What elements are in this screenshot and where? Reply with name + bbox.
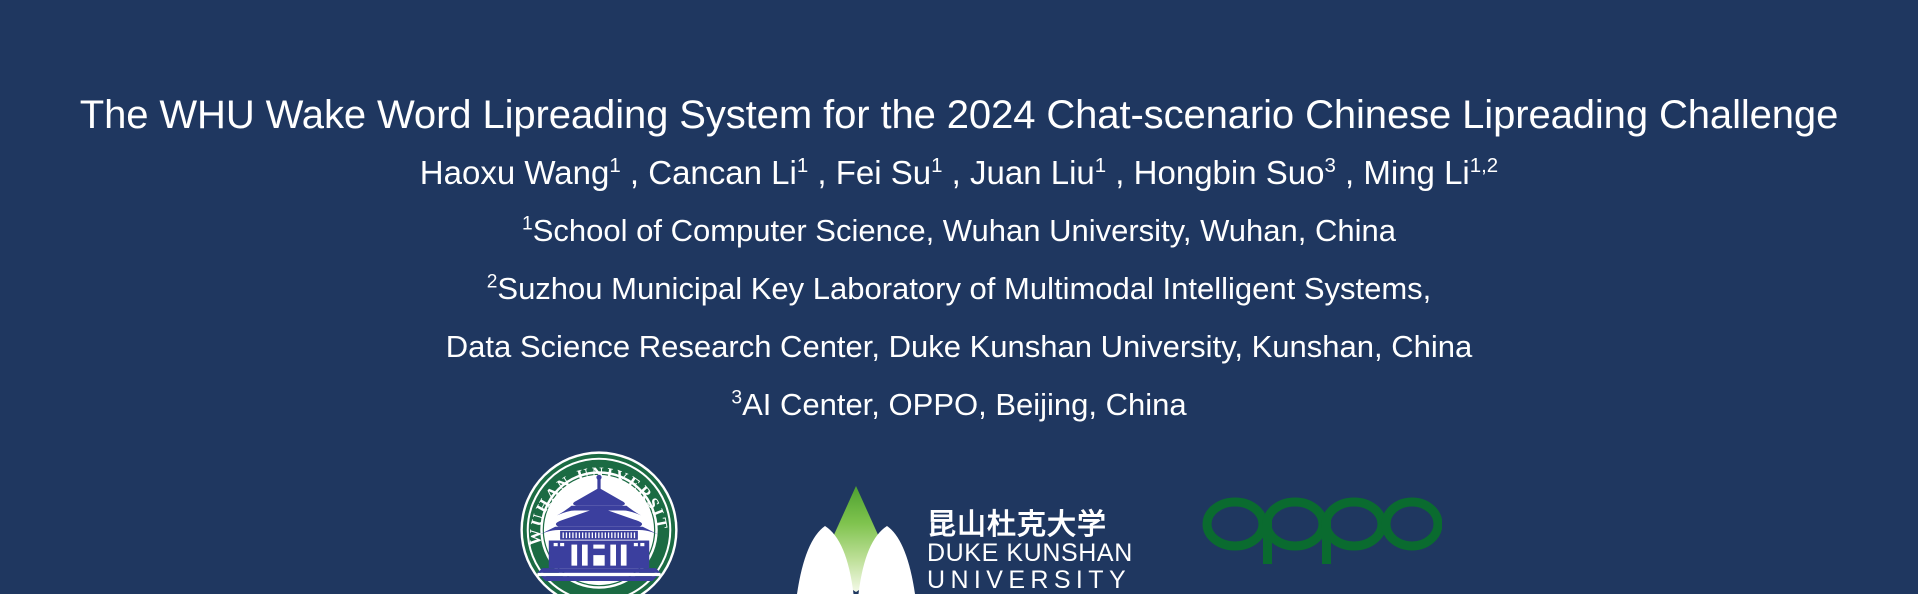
affiliation-1-marker: 1: [522, 214, 533, 235]
duke-kunshan-english-line-1: DUKE KUNSHAN: [927, 540, 1133, 567]
author-separator-5: ,: [1336, 154, 1364, 191]
affiliation-3-text: Data Science Research Center, Duke Kunsh…: [446, 329, 1472, 364]
authors-line: Haoxu Wang1 , Cancan Li1 , Fei Su1 , Jua…: [0, 144, 1918, 202]
oppo-logo: [1202, 492, 1442, 564]
duke-kunshan-english-line-2: UNIVERSITY: [927, 567, 1133, 594]
author-1-name: Haoxu Wang: [420, 154, 610, 191]
affiliation-2-marker: 2: [487, 272, 498, 293]
author-3-affiliation-marker: 1: [931, 154, 942, 177]
affiliation-line-4: 3AI Center, OPPO, Beijing, China: [0, 376, 1918, 434]
author-separator-2: ,: [808, 154, 836, 191]
author-4-name: Juan Liu: [970, 154, 1095, 191]
affiliation-4-marker: 3: [731, 388, 742, 409]
wuhan-university-logo: WUHAN UNIVERSITY: [518, 449, 680, 594]
affiliation-line-1: 1School of Computer Science, Wuhan Unive…: [0, 202, 1918, 260]
affiliation-4-text: AI Center, OPPO, Beijing, China: [742, 387, 1187, 422]
oppo-wordmark-icon: [1202, 492, 1442, 564]
author-6-affiliation-marker: 1,2: [1470, 154, 1498, 177]
affiliation-line-2: 2Suzhou Municipal Key Laboratory of Mult…: [0, 260, 1918, 318]
logo-row: WUHAN UNIVERSITY: [0, 446, 1918, 594]
author-2-name: Cancan Li: [648, 154, 797, 191]
title-slide: The WHU Wake Word Lipreading System for …: [0, 0, 1918, 594]
affiliation-2-text: Suzhou Municipal Key Laboratory of Multi…: [497, 271, 1431, 306]
author-3-name: Fei Su: [836, 154, 931, 191]
author-4-affiliation-marker: 1: [1095, 154, 1106, 177]
author-separator-3: ,: [942, 154, 970, 191]
author-6-name: Ming Li: [1363, 154, 1469, 191]
author-1-affiliation-marker: 1: [609, 154, 620, 177]
author-5-name: Hongbin Suo: [1134, 154, 1325, 191]
duke-kunshan-chinese-name: 昆山杜克大学: [927, 508, 1133, 540]
title-text-block: The WHU Wake Word Lipreading System for …: [0, 0, 1918, 434]
author-5-affiliation-marker: 3: [1324, 154, 1335, 177]
affiliation-line-3: Data Science Research Center, Duke Kunsh…: [0, 318, 1918, 376]
affiliation-1-text: School of Computer Science, Wuhan Univer…: [533, 213, 1396, 248]
author-2-affiliation-marker: 1: [797, 154, 808, 177]
duke-kunshan-wordmark: 昆山杜克大学 DUKE KUNSHAN UNIVERSITY: [927, 508, 1133, 594]
page-title: The WHU Wake Word Lipreading System for …: [0, 0, 1918, 144]
wuhan-university-seal-icon: WUHAN UNIVERSITY: [518, 449, 680, 594]
author-separator-1: ,: [621, 154, 649, 191]
duke-kunshan-university-logo: 昆山杜克大学 DUKE KUNSHAN UNIVERSITY: [795, 484, 1135, 594]
author-separator-4: ,: [1106, 154, 1134, 191]
duke-kunshan-mountain-book-icon: [795, 484, 917, 594]
